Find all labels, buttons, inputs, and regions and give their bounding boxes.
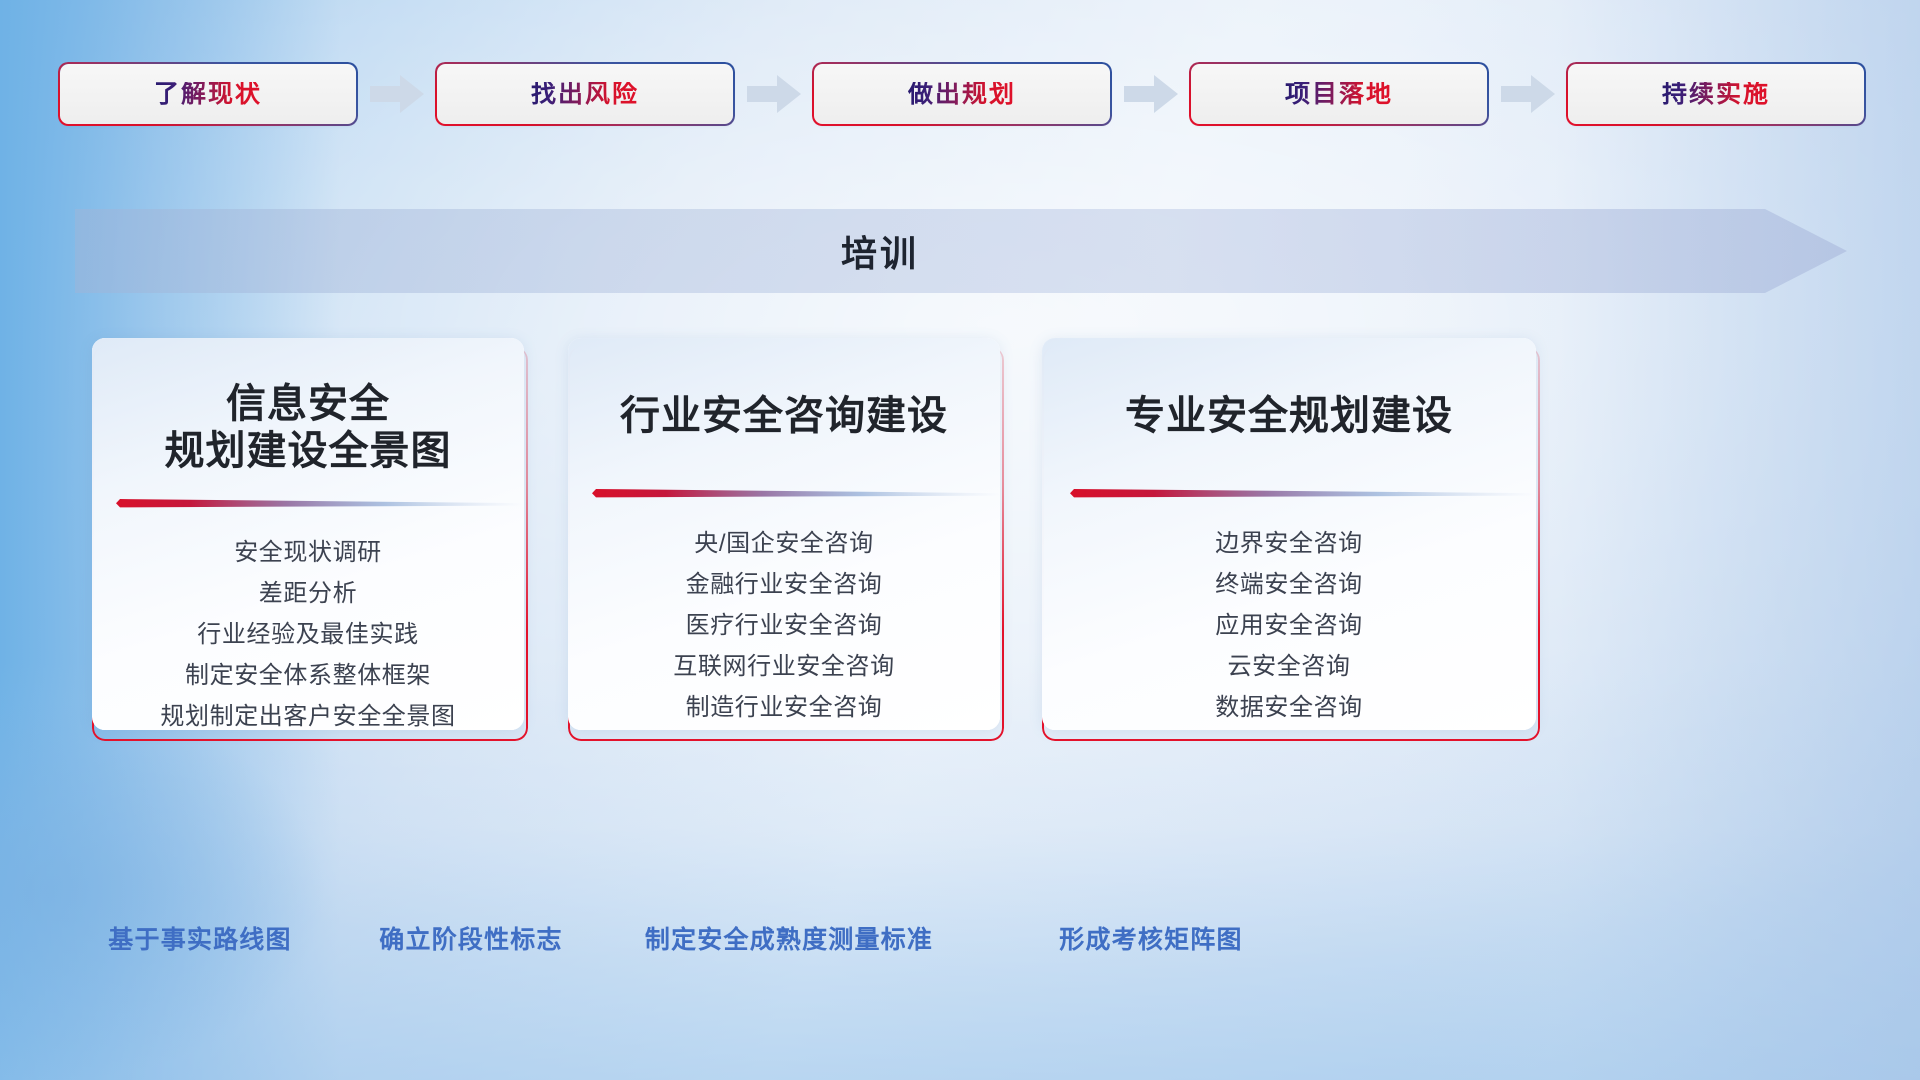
arrow-right-icon xyxy=(356,74,437,114)
pipeline-step-1[interactable]: 了解现状 xyxy=(60,64,356,125)
arrow-right-icon xyxy=(1110,74,1191,114)
card-title-line: 信息安全 xyxy=(92,381,524,428)
card-title: 信息安全 规划建设全景图 xyxy=(92,338,524,475)
footer-label-assessment-matrix: 形成考核矩阵图 xyxy=(1059,920,1242,956)
card-title: 行业安全咨询建设 xyxy=(568,338,1000,440)
pipeline-step-label: 做出规划 xyxy=(908,82,1016,107)
pipeline-step-label: 了解现状 xyxy=(154,82,262,107)
card-title-line: 专业安全规划建设 xyxy=(1042,393,1536,440)
card-body: 行业安全咨询建设 央/国企安全咨询 金融行业安全咨询 医疗行业安全咨 xyxy=(568,338,1000,730)
footer-label-fact-roadmap: 基于事实路线图 xyxy=(108,920,291,956)
pipeline-step-label: 项目落地 xyxy=(1285,82,1393,107)
card-body: 信息安全 规划建设全景图 安全现状调研 差距分析 行业经 xyxy=(92,338,524,730)
card-list-item: 云安全咨询 xyxy=(1042,655,1536,679)
card-list-item: 制造行业安全咨询 xyxy=(568,696,1000,720)
pipeline-step-5[interactable]: 持续实施 xyxy=(1568,64,1864,125)
card-title: 专业安全规划建设 xyxy=(1042,338,1536,440)
card-list-item: 行业经验及最佳实践 xyxy=(92,623,524,647)
card-list-item: 医疗行业安全咨询 xyxy=(568,614,1000,638)
card-list-item: 终端安全咨询 xyxy=(1042,573,1536,597)
card-list-item: 应用安全咨询 xyxy=(1042,614,1536,638)
arrow-right-icon xyxy=(733,74,814,114)
card-list-item: 边界安全咨询 xyxy=(1042,532,1536,556)
card-professional-security-planning[interactable]: 专业安全规划建设 边界安全咨询 终端安全咨询 应用安全咨询 xyxy=(1042,338,1536,730)
card-divider xyxy=(1042,485,1536,501)
card-list-item: 差距分析 xyxy=(92,582,524,606)
process-pipeline: 了解现状 找出风险 做出规划 项目落地 持续实施 xyxy=(60,63,1860,125)
card-list-item: 央/国企安全咨询 xyxy=(568,532,1000,556)
card-list-item: 安全现状调研 xyxy=(92,541,524,565)
card-divider xyxy=(92,495,524,511)
card-body: 专业安全规划建设 边界安全咨询 终端安全咨询 应用安全咨询 xyxy=(1042,338,1536,730)
card-list-item: 规划制定出客户安全全景图 xyxy=(92,705,524,729)
footer-label-phase-milestone: 确立阶段性标志 xyxy=(379,920,562,956)
card-item-list: 央/国企安全咨询 金融行业安全咨询 医疗行业安全咨询 互联网行业安全咨询 制造行… xyxy=(568,501,1000,737)
footer-label-maturity-standard: 制定安全成熟度测量标准 xyxy=(645,920,933,956)
pipeline-step-label: 持续实施 xyxy=(1662,82,1770,107)
banner-title: 培训 xyxy=(75,209,1685,293)
card-title-line: 行业安全咨询建设 xyxy=(568,393,1000,440)
card-divider xyxy=(568,485,1000,501)
training-banner: 培训 xyxy=(75,209,1847,293)
card-title-line: 规划建设全景图 xyxy=(92,428,524,475)
card-list-item: 制定安全体系整体框架 xyxy=(92,664,524,688)
pipeline-step-label: 找出风险 xyxy=(531,82,639,107)
card-item-list: 安全现状调研 差距分析 行业经验及最佳实践 制定安全体系整体框架 规划制定出客户… xyxy=(92,511,524,746)
pipeline-step-3[interactable]: 做出规划 xyxy=(814,64,1110,125)
pipeline-step-2[interactable]: 找出风险 xyxy=(437,64,733,125)
arrow-right-icon xyxy=(1487,74,1568,114)
pipeline-step-4[interactable]: 项目落地 xyxy=(1191,64,1487,125)
card-item-list: 边界安全咨询 终端安全咨询 应用安全咨询 云安全咨询 数据安全咨询 xyxy=(1042,501,1536,737)
card-list-item: 数据安全咨询 xyxy=(1042,696,1536,720)
card-industry-security-consulting[interactable]: 行业安全咨询建设 央/国企安全咨询 金融行业安全咨询 医疗行业安全咨 xyxy=(568,338,1000,730)
card-information-security-panorama[interactable]: 信息安全 规划建设全景图 安全现状调研 差距分析 行业经 xyxy=(92,338,524,730)
card-list-item: 金融行业安全咨询 xyxy=(568,573,1000,597)
card-list-item: 互联网行业安全咨询 xyxy=(568,655,1000,679)
